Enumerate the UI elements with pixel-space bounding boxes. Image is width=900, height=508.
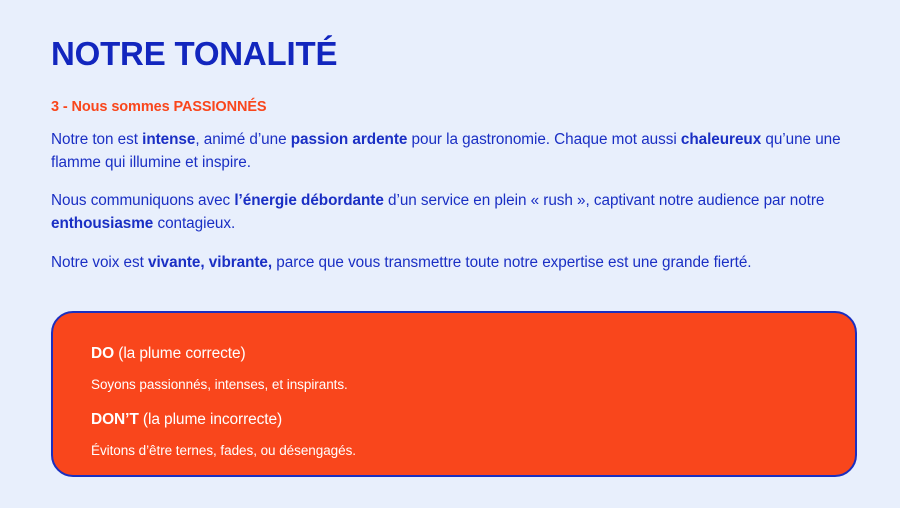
dont-note: (la plume incorrecte) [139,411,282,428]
paragraph-2-bold-1: l’énergie débordante [234,192,383,209]
paragraph-3-text-2: parce que vous transmettre toute notre e… [272,254,751,271]
paragraph-voice: Notre voix est vivante, vibrante, parce … [51,251,851,274]
paragraph-1-bold-1: intense [142,131,195,148]
section-label: 3 - Nous sommes PASSIONNÉS [51,99,267,115]
paragraph-intensity: Notre ton est intense, animé d’une passi… [51,128,851,174]
do-heading: DO (la plume correcte) [91,344,855,364]
paragraph-1-bold-2: passion ardente [291,131,408,148]
paragraph-1-text-2: , animé d’une [195,131,290,148]
do-label: DO [91,345,114,362]
do-dont-callout: DO (la plume correcte) Soyons passionnés… [51,311,857,477]
dont-description: Évitons d’être ternes, fades, ou désenga… [91,442,855,460]
paragraph-2-text-3: contagieux. [153,215,235,232]
do-note: (la plume correcte) [114,345,246,362]
paragraph-2-bold-2: enthousiasme [51,215,153,232]
slide-canvas: NOTRE TONALITÉ 3 - Nous sommes PASSIONNÉ… [0,0,900,508]
paragraph-1-bold-3: chaleureux [681,131,761,148]
paragraph-3-bold-1: vivante, vibrante, [148,254,272,271]
paragraph-1-text-3: pour la gastronomie. Chaque mot aussi [407,131,681,148]
dont-label: DON’T [91,411,139,428]
paragraph-energy: Nous communiquons avec l’énergie déborda… [51,189,851,235]
paragraph-2-text-1: Nous communiquons avec [51,192,234,209]
do-description: Soyons passionnés, intenses, et inspiran… [91,376,855,394]
paragraph-2-text-2: d’un service en plein « rush », captivan… [384,192,825,209]
callout-content: DO (la plume correcte) Soyons passionnés… [53,313,855,460]
paragraph-1-text-1: Notre ton est [51,131,142,148]
dont-heading: DON’T (la plume incorrecte) [91,410,855,430]
page-title: NOTRE TONALITÉ [51,36,337,72]
paragraph-3-text-1: Notre voix est [51,254,148,271]
